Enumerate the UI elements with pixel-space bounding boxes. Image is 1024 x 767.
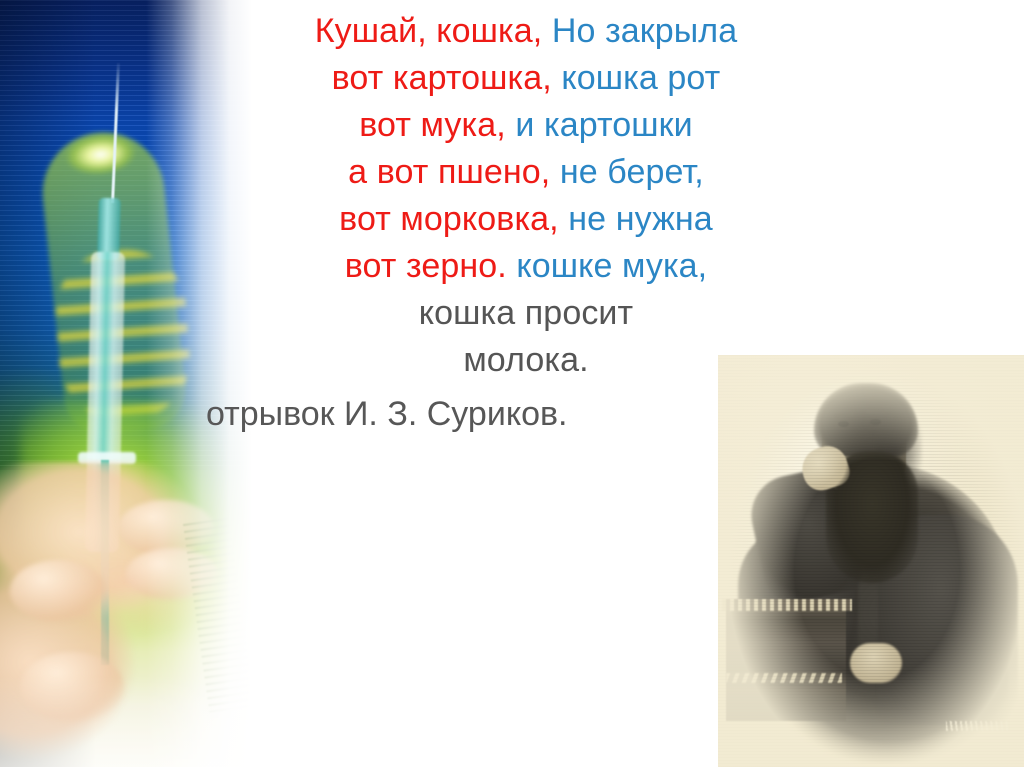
poem-attribution: отрывок И. З. Суриков. <box>206 392 568 436</box>
poem-line-blue: кошке мука, <box>507 247 707 285</box>
poem-line-red: Кушай, кошка, <box>315 12 543 50</box>
poem-line-red: а вот пшено, <box>348 153 550 191</box>
poem-line: а вот пшено, не берет, <box>208 149 844 196</box>
poem-line-blue: не берет, <box>550 153 704 191</box>
poem-line-blue: не нужна <box>559 200 713 238</box>
poem-tail-line: кошка просит <box>208 290 844 337</box>
poem-line: вот зерно. кошке мука, <box>208 243 844 290</box>
poem-line: Кушай, кошка, Но закрыла <box>208 8 844 55</box>
photo-bottom-fade <box>0 677 252 767</box>
surikov-portrait-engraving <box>718 355 1024 767</box>
poem-line-red: вот картошка, <box>332 59 552 97</box>
poem-line-red: вот морковка, <box>339 200 559 238</box>
poem-line: вот картошка, кошка рот <box>208 55 844 102</box>
poem-text-block: Кушай, кошка, Но закрыла вот картошка, к… <box>208 8 844 384</box>
poem-line-red: вот мука, <box>359 106 506 144</box>
poem-line: вот морковка, не нужна <box>208 196 844 243</box>
slide-canvas: Кушай, кошка, Но закрыла вот картошка, к… <box>0 0 1024 767</box>
poem-line: вот мука, и картошки <box>208 102 844 149</box>
poem-line-blue: Но закрыла <box>542 12 737 50</box>
portrait-edge-fade <box>718 355 1024 767</box>
poem-line-red: вот зерно. <box>345 247 507 285</box>
poem-line-blue: кошка рот <box>552 59 721 97</box>
poem-line-blue: и картошки <box>506 106 693 144</box>
